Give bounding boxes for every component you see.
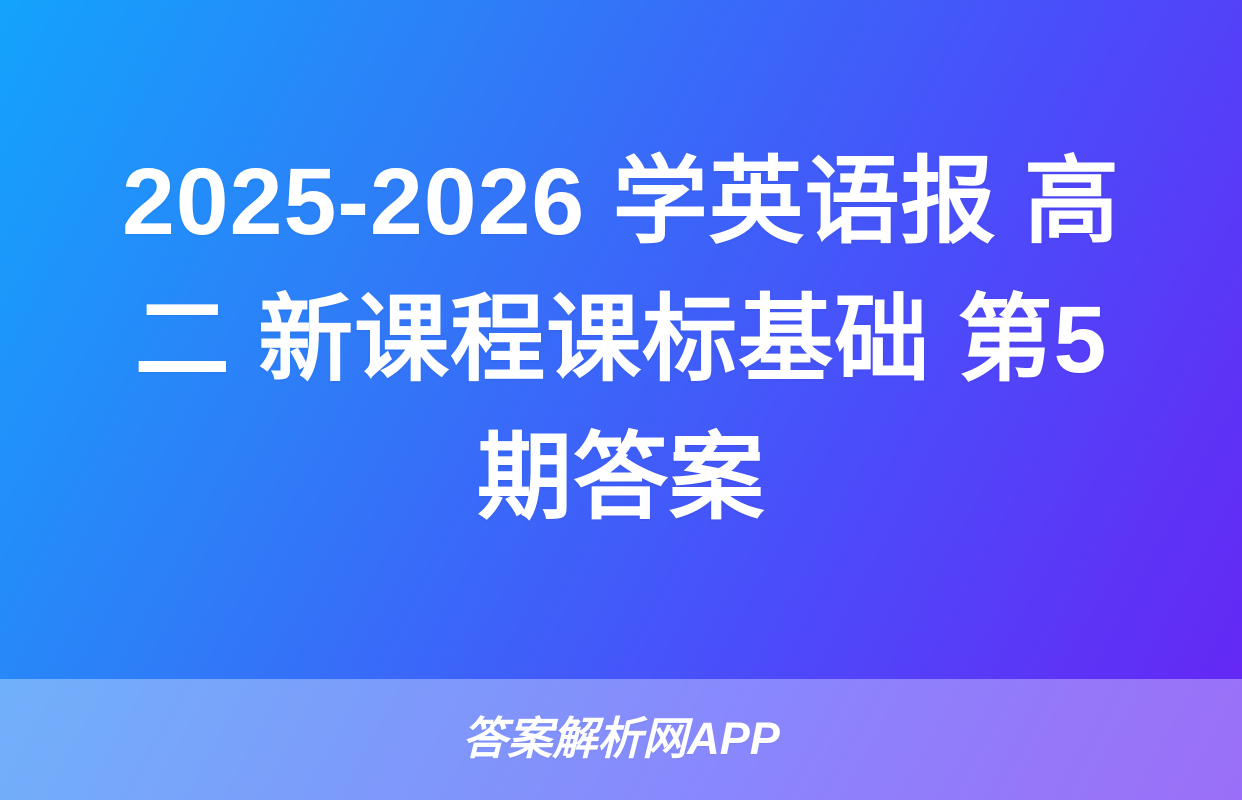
watermark-band: 答案解析网APP <box>0 679 1242 800</box>
page-title-line-2: 二 新课程课标基础 第5 <box>40 271 1202 409</box>
app-watermark-label: 答案解析网APP <box>462 716 780 761</box>
poster-title-block: 2025-2026 学英语报 高 二 新课程课标基础 第5 期答案 <box>0 0 1242 679</box>
page-title-line-1: 2025-2026 学英语报 高 <box>40 133 1202 271</box>
page-title-line-3: 期答案 <box>40 409 1202 547</box>
answer-poster: 2025-2026 学英语报 高 二 新课程课标基础 第5 期答案 答案解析网A… <box>0 0 1242 800</box>
